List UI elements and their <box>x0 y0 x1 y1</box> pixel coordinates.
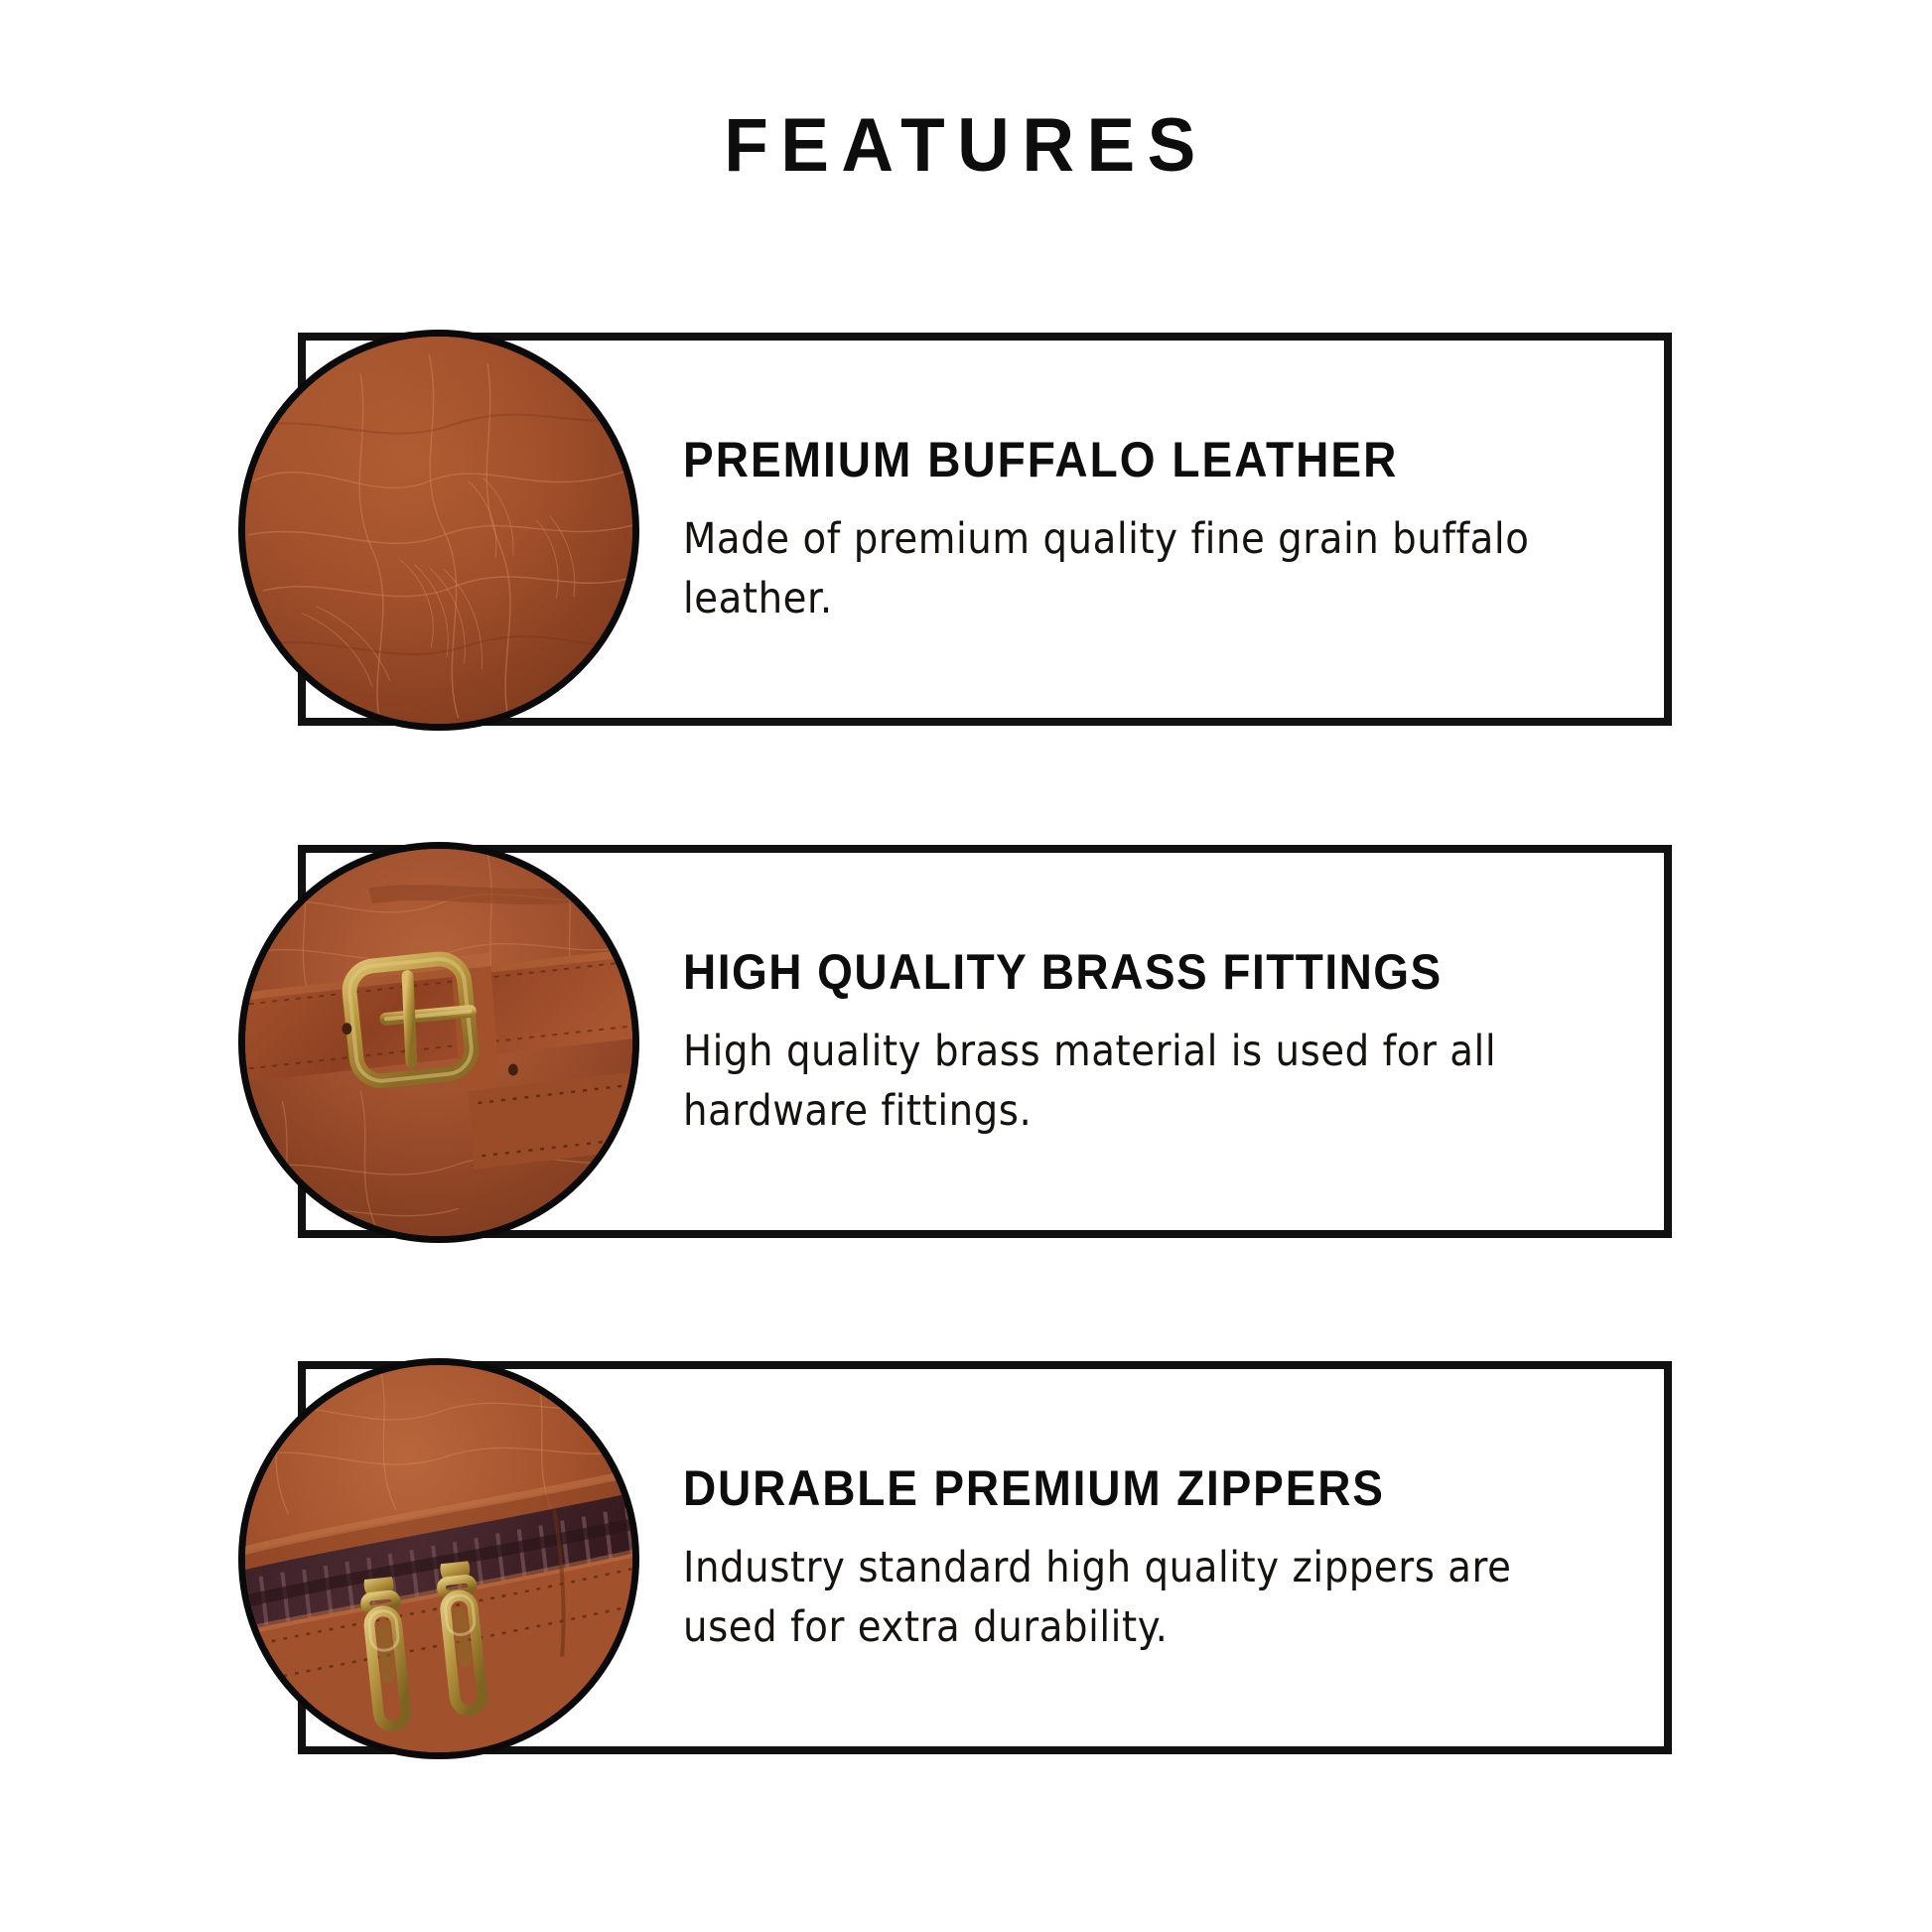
features-infographic: FEATURES <box>0 0 1932 1932</box>
leather-grain-circle-icon <box>238 330 639 731</box>
feature-heading: DURABLE PREMIUM ZIPPERS <box>683 1460 1579 1516</box>
feature-list: PREMIUM BUFFALO LEATHER Made of premium … <box>0 0 1932 1932</box>
feature-description: Made of premium quality fine grain buffa… <box>683 509 1559 628</box>
feature-description: Industry standard high quality zippers a… <box>683 1538 1559 1657</box>
brass-zipper-circle-icon <box>238 1358 639 1759</box>
feature-text-block: DURABLE PREMIUM ZIPPERS Industry standar… <box>683 1358 1656 1759</box>
feature-text-block: HIGH QUALITY BRASS FITTINGS High quality… <box>683 842 1656 1243</box>
feature-description: High quality brass material is used for … <box>683 1022 1559 1141</box>
feature-item: HIGH QUALITY BRASS FITTINGS High quality… <box>238 842 1678 1243</box>
feature-item: PREMIUM BUFFALO LEATHER Made of premium … <box>238 330 1678 731</box>
feature-text-block: PREMIUM BUFFALO LEATHER Made of premium … <box>683 330 1656 731</box>
feature-heading: PREMIUM BUFFALO LEATHER <box>683 432 1579 487</box>
feature-heading: HIGH QUALITY BRASS FITTINGS <box>683 944 1579 1000</box>
brass-buckle-circle-icon <box>238 842 639 1243</box>
feature-item: DURABLE PREMIUM ZIPPERS Industry standar… <box>238 1358 1678 1759</box>
